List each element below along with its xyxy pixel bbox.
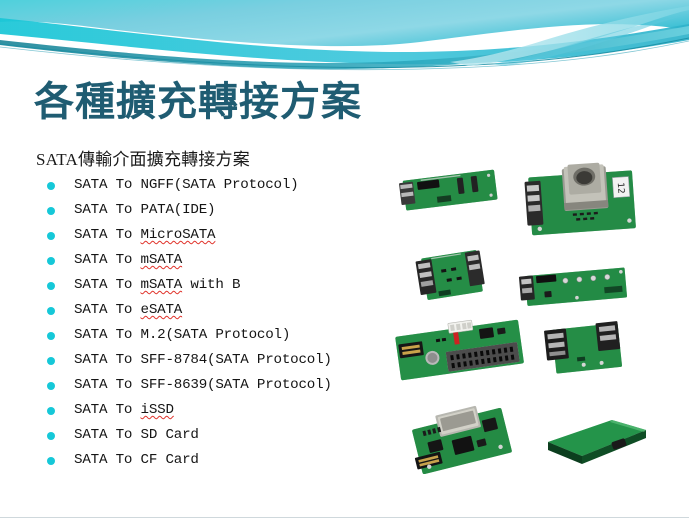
- header-decoration: [0, 0, 689, 76]
- bullet-list-item: SATA To MicroSATA: [36, 223, 386, 248]
- subheading: SATA傳輸介面擴充轉接方案: [36, 148, 386, 172]
- bullet-dot-icon: [47, 257, 55, 265]
- sata-to-pata-ide-adapter-board-photo: [384, 310, 536, 396]
- sata-to-esata-adapter-board-photo: [538, 312, 642, 384]
- bullet-list-item-label: SATA To M.2(SATA Protocol): [74, 327, 290, 343]
- bullet-dot-icon: [47, 182, 55, 190]
- bullet-list-item: SATA To iSSD: [36, 398, 386, 423]
- bullet-list-item-label: SATA To iSSD: [74, 402, 174, 418]
- pcb-illustration: [510, 256, 636, 318]
- bullet-list-item-label: SATA To MicroSATA: [74, 227, 215, 243]
- pcb-illustration: [392, 153, 510, 225]
- bullet-dot-icon: [47, 282, 55, 290]
- bullet-list-item: SATA To PATA(IDE): [36, 198, 386, 223]
- bullet-dot-icon: [47, 207, 55, 215]
- bullet-list-item: SATA To mSATA: [36, 248, 386, 273]
- bullet-list-item: SATA To SFF-8784(SATA Protocol): [36, 348, 386, 373]
- header-wave-graphic: [0, 0, 689, 76]
- bullet-list-item: SATA To eSATA: [36, 298, 386, 323]
- bullet-list-item-label: SATA To PATA(IDE): [74, 202, 215, 218]
- bullet-dot-icon: [47, 332, 55, 340]
- bullet-list: SATA To NGFF(SATA Protocol)SATA To PATA(…: [36, 173, 386, 473]
- bullet-list-item: SATA To M.2(SATA Protocol): [36, 323, 386, 348]
- sata-to-m2-adapter-board-photo: [510, 256, 636, 318]
- bullet-list-item: SATA To SFF-8639(SATA Protocol): [36, 373, 386, 398]
- spellcheck-underlined-term: mSATA: [141, 277, 183, 293]
- sata-to-bga-socket-board-photo: 12: [516, 158, 644, 246]
- bullet-list-item: SATA To mSATA with B: [36, 273, 386, 298]
- spellcheck-underlined-term: mSATA: [141, 252, 183, 268]
- presentation-slide: 各種擴充轉接方案 SATA傳輸介面擴充轉接方案 SATA To NGFF(SAT…: [0, 0, 689, 518]
- bullet-dot-icon: [47, 407, 55, 415]
- bullet-list-item-label: SATA To mSATA with B: [74, 277, 240, 293]
- spellcheck-underlined-term: MicroSATA: [141, 227, 216, 243]
- bullet-list-item-label: SATA To mSATA: [74, 252, 182, 268]
- svg-text:12: 12: [615, 182, 626, 194]
- product-image-gallery: 12: [378, 150, 683, 500]
- bullet-list-item-label: SATA To SFF-8639(SATA Protocol): [74, 377, 332, 393]
- slide-title: 各種擴充轉接方案: [34, 78, 362, 126]
- sata-to-sd-card-adapter-board-photo: [402, 400, 522, 482]
- pcb-illustration: [538, 312, 642, 384]
- sata-to-ngff-adapter-board-photo: [392, 153, 510, 225]
- bullet-list-item-label: SATA To SFF-8784(SATA Protocol): [74, 352, 332, 368]
- pcb-illustration: 12: [516, 158, 644, 246]
- bullet-list-item: SATA To NGFF(SATA Protocol): [36, 173, 386, 198]
- bullet-list-item-label: SATA To CF Card: [74, 452, 199, 468]
- bullet-dot-icon: [47, 457, 55, 465]
- sata-to-microsata-adapter-board-photo: [406, 242, 498, 308]
- bullet-list-item-label: SATA To NGFF(SATA Protocol): [74, 177, 298, 193]
- pcb-illustration: [536, 404, 654, 474]
- bullet-dot-icon: [47, 307, 55, 315]
- pcb-illustration: [384, 310, 536, 396]
- bullet-list-item-label: SATA To eSATA: [74, 302, 182, 318]
- sata-to-cf-card-adapter-board-photo: [536, 404, 654, 474]
- spellcheck-underlined-term: iSSD: [141, 402, 174, 418]
- content-text-block: SATA傳輸介面擴充轉接方案 SATA To NGFF(SATA Protoco…: [36, 148, 386, 473]
- bullet-dot-icon: [47, 382, 55, 390]
- bullet-dot-icon: [47, 432, 55, 440]
- spellcheck-underlined-term: eSATA: [141, 302, 183, 318]
- bullet-dot-icon: [47, 232, 55, 240]
- pcb-illustration: [406, 242, 498, 308]
- bullet-dot-icon: [47, 357, 55, 365]
- pcb-illustration: [402, 400, 522, 482]
- bullet-list-item: SATA To CF Card: [36, 448, 386, 473]
- bullet-list-item: SATA To SD Card: [36, 423, 386, 448]
- bullet-list-item-label: SATA To SD Card: [74, 427, 199, 443]
